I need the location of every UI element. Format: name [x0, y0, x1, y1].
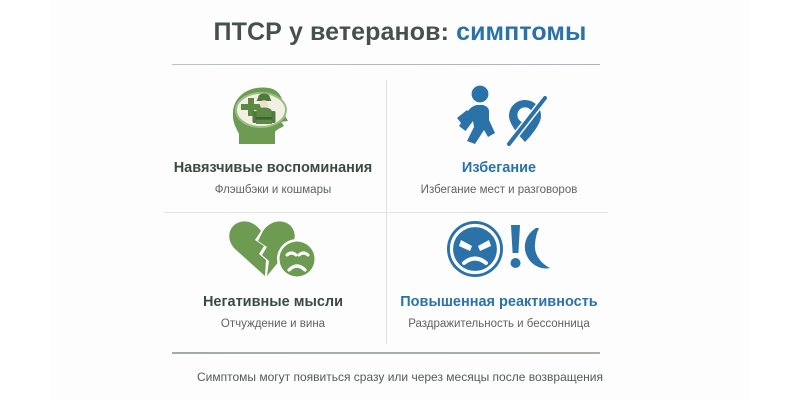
- quadrant-avoidance[interactable]: Избегание Избегание мест и разговоров: [386, 78, 612, 212]
- quadrant-heading: Избегание: [462, 160, 536, 177]
- page-title: ПТСР у ветеранов: симптомы: [50, 18, 750, 47]
- quadrant-heading: Повышенная реактивность: [400, 294, 597, 311]
- quadrant-subtitle: Избегание мест и разговоров: [421, 184, 578, 198]
- broken-heart-sad-face-icon: [221, 218, 325, 280]
- symptom-grid: Навязчивые воспоминания Флэшбэки и кошма…: [160, 78, 612, 346]
- page-title-accent: симптомы: [456, 18, 586, 46]
- quadrant-intrusive-memories[interactable]: Навязчивые воспоминания Флэшбэки и кошма…: [160, 78, 386, 212]
- quadrant-subtitle: Флэшбэки и кошмары: [215, 184, 332, 198]
- quadrant-subtitle: Раздражительность и бессонница: [408, 318, 590, 332]
- quadrant-heading: Навязчивые воспоминания: [174, 160, 373, 177]
- ptsd-symptoms-infographic: ПТСР у ветеранов: симптомы: [0, 0, 800, 400]
- title-divider: [172, 64, 600, 65]
- footer-note: Симптомы могут появиться сразу или через…: [50, 370, 750, 384]
- footer-divider: [172, 352, 600, 354]
- quadrant-negative-thoughts[interactable]: Негативные мысли Отчуждение и вина: [160, 212, 386, 346]
- head-with-soldier-icon: [225, 84, 321, 146]
- walking-person-pin-slash-icon: [447, 84, 551, 146]
- quadrant-heading: Негативные мысли: [203, 294, 343, 311]
- quadrant-hyperarousal[interactable]: Повышенная реактивность Раздражительност…: [386, 212, 612, 346]
- page-title-main: ПТСР у ветеранов:: [214, 18, 449, 46]
- quadrant-subtitle: Отчуждение и вина: [221, 318, 325, 332]
- angry-face-exclamation-moon-icon: [444, 218, 554, 280]
